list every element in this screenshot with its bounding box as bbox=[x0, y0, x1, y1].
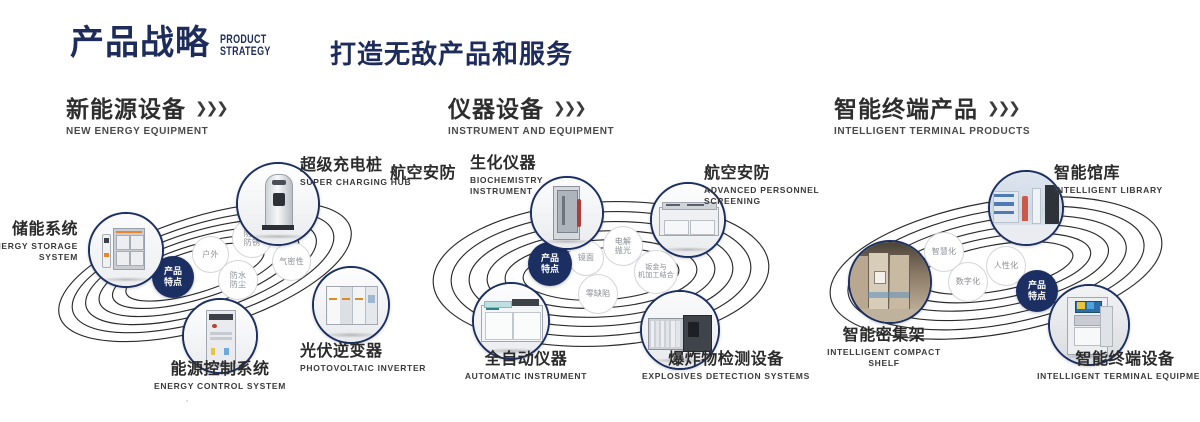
chevron-right-icon: ❯❯❯ bbox=[553, 96, 585, 122]
caption-cn: 航空安防 bbox=[320, 164, 456, 183]
caption-cn: 智能终端设备 bbox=[980, 350, 1200, 369]
section-heading-en: INTELLIGENT TERMINAL PRODUCTS bbox=[834, 126, 1030, 137]
diagram-intelligent-terminal: 智慧化 数字化 人性化 产品 特点 智能馆库 INTELLIGENT LIBRA… bbox=[800, 150, 1200, 410]
caption-en: BIOCHEMISTRY INSTRUMENT bbox=[470, 175, 620, 197]
caption-en: INTELLIGENT TERMINAL EQUIPMENT bbox=[980, 371, 1200, 382]
page-title: 产品战略 PRODUCT STRATEGY bbox=[70, 26, 285, 60]
caption-en: INTELLIGENT LIBRARY bbox=[1054, 185, 1200, 196]
caption-cn: 储能系统 bbox=[0, 220, 78, 239]
node-intelligent-library[interactable] bbox=[988, 170, 1064, 246]
caption-en: ENERGY CONTROL SYSTEM bbox=[80, 381, 360, 392]
caption-cn: 全自动仪器 bbox=[386, 350, 666, 369]
feature-bubble-airtight: 气密性 bbox=[272, 242, 311, 281]
caption-aviation-security-left: 航空安防 bbox=[320, 164, 456, 183]
node-automatic-instrument[interactable] bbox=[472, 282, 550, 360]
caption-cn: 能源控制系统 bbox=[80, 360, 360, 379]
feature-bubble-waterproof: 防水 防尘 bbox=[218, 260, 258, 300]
node-energy-storage[interactable] bbox=[88, 212, 164, 288]
feature-bubble-zero-defect: 零缺陷 bbox=[578, 274, 618, 314]
chevron-right-icon: ❯❯❯ bbox=[987, 96, 1019, 122]
feature-bubble-sheetmetal-machining: 钣金与 机加工结合 bbox=[634, 250, 678, 294]
caption-cn: 生化仪器 bbox=[470, 154, 620, 173]
section-heading-instrument: 仪器设备 ❯❯❯ INSTRUMENT AND EQUIPMENT bbox=[448, 96, 614, 137]
caption-en: ENERGY STORAGE SYSTEM bbox=[0, 241, 78, 263]
caption-en: AUTOMATIC INSTRUMENT bbox=[386, 371, 666, 382]
caption-cn: 智能馆库 bbox=[1054, 164, 1200, 183]
page-subtitle: 打造无敌产品和服务 bbox=[330, 34, 573, 71]
section-heading-cn: 新能源设备 bbox=[66, 96, 186, 122]
caption-energy-control: 能源控制系统 ENERGY CONTROL SYSTEM bbox=[80, 360, 360, 392]
caption-terminal-equipment: 智能终端设备 INTELLIGENT TERMINAL EQUIPMENT bbox=[980, 350, 1200, 382]
page-title-en: PRODUCT STRATEGY bbox=[220, 34, 271, 58]
section-heading-new-energy: 新能源设备 ❯❯❯ NEW ENERGY EQUIPMENT bbox=[66, 96, 227, 137]
page-title-cn: 产品战略 bbox=[70, 26, 210, 60]
diagram-new-energy: 户外 防腐 防锈 防水 防尘 气密性 产品 特点 bbox=[0, 150, 420, 410]
spacer bbox=[186, 400, 188, 402]
section-heading-intelligent-terminal: 智能终端产品 ❯❯❯ INTELLIGENT TERMINAL PRODUCTS bbox=[834, 96, 1030, 137]
poster-canvas: 产品战略 PRODUCT STRATEGY 打造无敌产品和服务 新能源设备 ❯❯… bbox=[0, 0, 1200, 422]
caption-cn: 智能密集架 bbox=[784, 326, 984, 345]
caption-en: INTELLIGENT COMPACT SHELF bbox=[784, 347, 984, 369]
section-heading-cn: 智能终端产品 bbox=[834, 96, 978, 122]
caption-compact-shelf: 智能密集架 INTELLIGENT COMPACT SHELF bbox=[784, 326, 984, 369]
caption-energy-storage: 储能系统 ENERGY STORAGE SYSTEM bbox=[0, 220, 78, 263]
caption-automatic-instrument: 全自动仪器 AUTOMATIC INSTRUMENT bbox=[386, 350, 666, 382]
node-compact-shelf[interactable] bbox=[848, 240, 932, 324]
section-heading-cn: 仪器设备 bbox=[448, 96, 544, 122]
section-heading-en: NEW ENERGY EQUIPMENT bbox=[66, 126, 227, 137]
feature-bubble-digital: 数字化 bbox=[948, 262, 988, 302]
chevron-right-icon: ❯❯❯ bbox=[195, 96, 227, 122]
section-heading-en: INSTRUMENT AND EQUIPMENT bbox=[448, 126, 614, 137]
node-pv-inverter[interactable] bbox=[312, 266, 390, 344]
caption-intelligent-library: 智能馆库 INTELLIGENT LIBRARY bbox=[1054, 164, 1200, 196]
diagram-instrument: 镜面 电解 抛光 钣金与 机加工结合 零缺陷 产品 特点 航空安防 生化仪器 B… bbox=[396, 150, 806, 410]
caption-biochemistry-instrument: 生化仪器 BIOCHEMISTRY INSTRUMENT bbox=[470, 154, 620, 197]
